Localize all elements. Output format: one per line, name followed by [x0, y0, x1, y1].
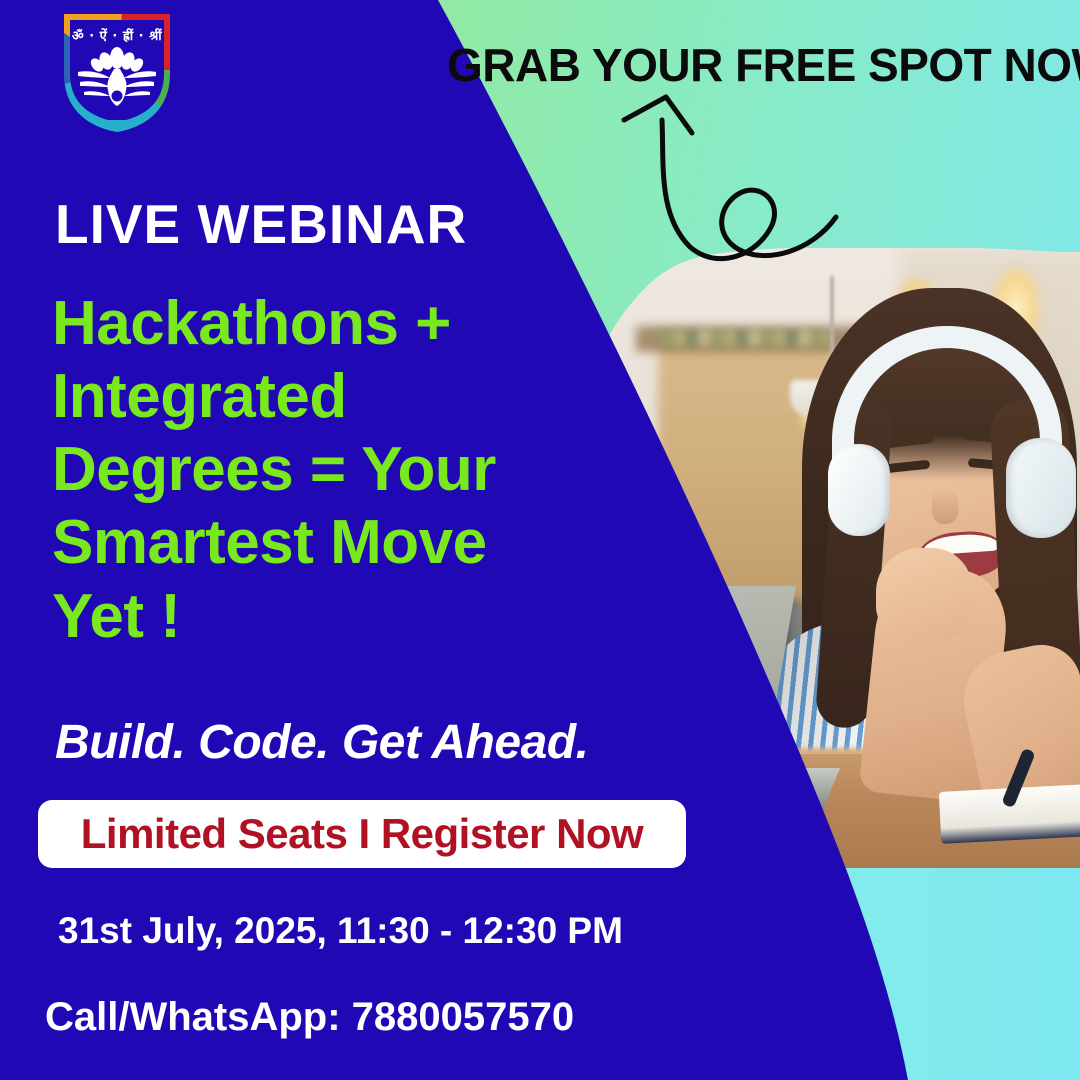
- main-headline: Hackathons + Integrated Degrees = Your S…: [52, 287, 572, 653]
- schedule-text: 31st July, 2025, 11:30 - 12:30 PM: [58, 910, 623, 952]
- headphone-earcup-right: [1006, 438, 1076, 538]
- contact-text: Call/WhatsApp: 7880057570: [45, 995, 574, 1040]
- university-shield-logo: ॐ · ऐं · ह्रीं · श्रीं: [58, 8, 176, 132]
- curly-arrow-icon: [600, 75, 900, 265]
- eyebrow-live-webinar: LIVE WEBINAR: [55, 192, 467, 256]
- shelf-items: [660, 330, 830, 346]
- tagline: Build. Code. Get Ahead.: [55, 715, 588, 770]
- register-cta-button[interactable]: Limited Seats I Register Now: [38, 800, 686, 868]
- headphone-earcup-left: [828, 444, 890, 536]
- register-cta-label: Limited Seats I Register Now: [81, 810, 643, 858]
- webinar-promo-poster: ॐ · ऐं · ह्रीं · श्रीं GRAB YOUR FREE SP…: [0, 0, 1080, 1080]
- lotus-wings-emblem: [70, 42, 164, 112]
- hand-on-chin: [876, 548, 972, 640]
- nose: [932, 488, 958, 524]
